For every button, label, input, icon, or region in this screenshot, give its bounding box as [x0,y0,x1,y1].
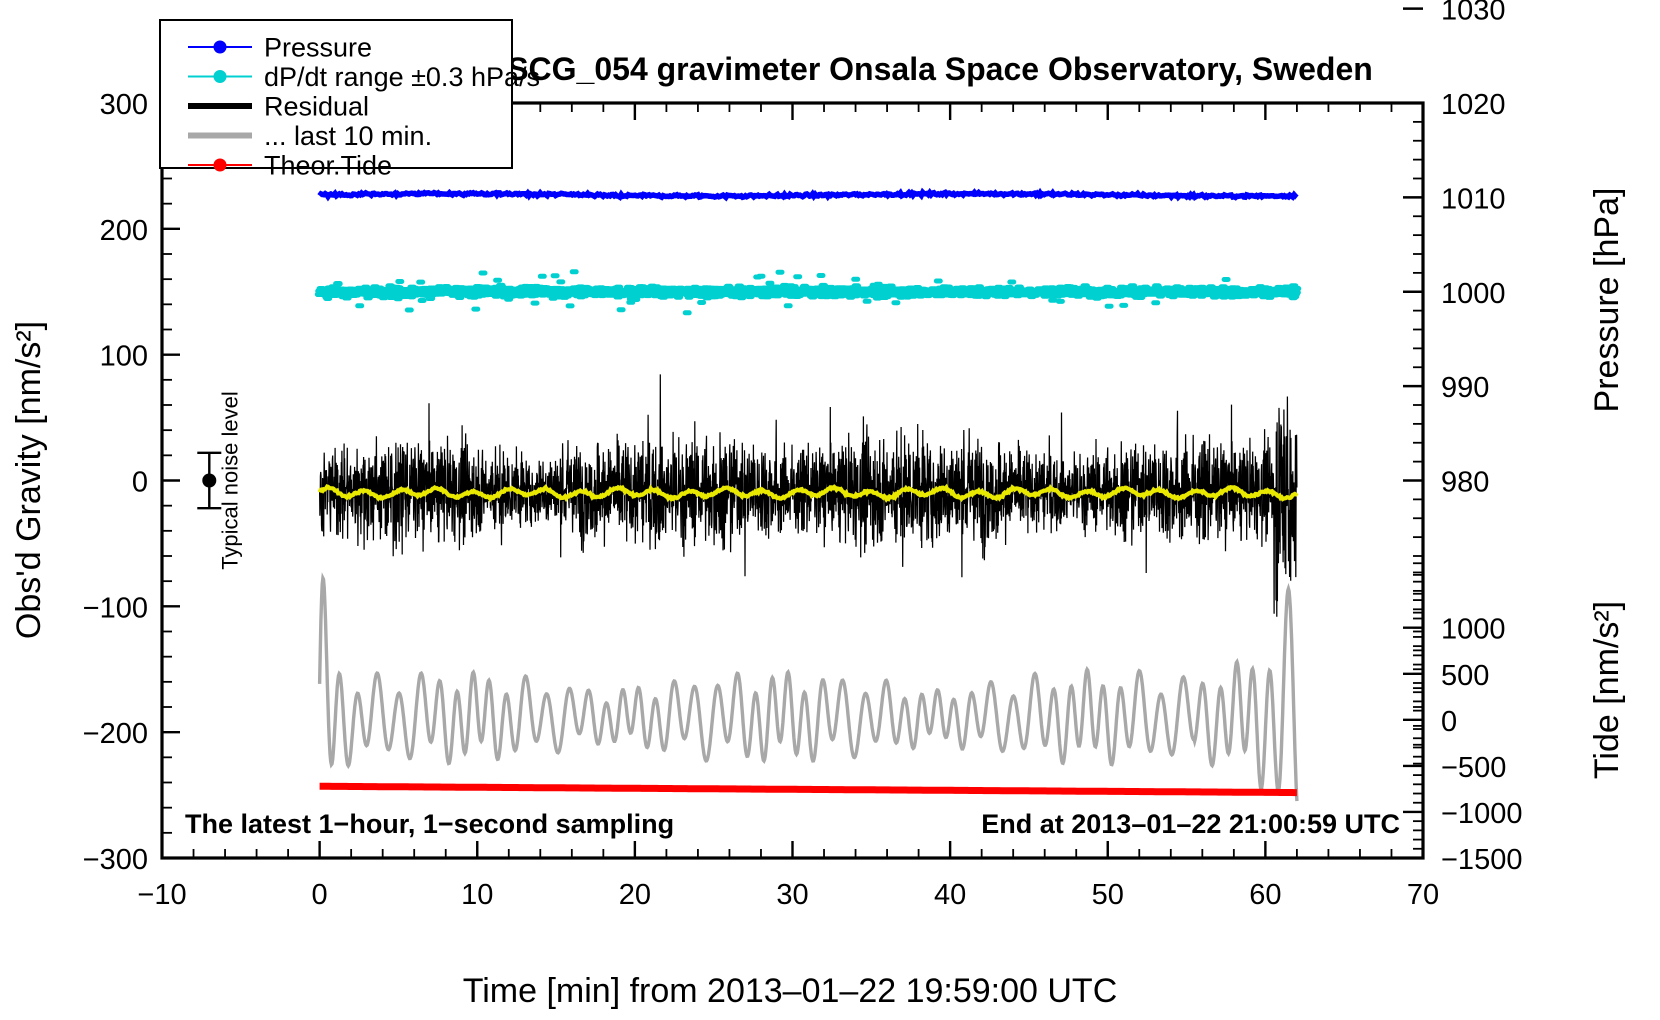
x-tick-label: 40 [934,879,966,911]
y-tick-label: 200 [100,215,148,247]
x-tick-label: 20 [619,879,651,911]
pressure-tick-label: 990 [1441,372,1489,404]
pressure-tick-label: 1000 [1441,278,1506,310]
x-tick-label: 60 [1249,879,1281,911]
y-tick-label: −100 [83,592,148,624]
legend-marker [214,41,227,54]
x-tick-label: 30 [776,879,808,911]
legend-label: Pressure [264,33,372,63]
pressure-tick-label: 1020 [1441,89,1506,121]
pressure-line [320,192,1297,197]
tide-tick-label: 0 [1441,706,1457,738]
x-tick-label: −10 [137,879,186,911]
y-tick-label: 100 [100,341,148,373]
tide-tick-label: 1000 [1441,614,1506,646]
legend-label: dP/dt range ±0.3 hPa/s [264,62,540,92]
legend-label: ... last 10 min. [264,121,432,151]
pressure-tick-label: 1030 [1441,0,1506,27]
end-time-note: End at 2013–01–22 21:00:59 UTC [981,809,1400,839]
tide-tick-label: 500 [1441,660,1489,692]
y-axis-title-pressure: Pressure [hPa] [1588,188,1626,413]
noise-level-dot [202,474,216,488]
pressure-tick-label: 1010 [1441,183,1506,215]
y-axis-title-left: Obs'd Gravity [nm/s²] [10,321,48,639]
tide-tick-label: −1500 [1441,844,1522,876]
page-title: SCG_054 gravimeter Onsala Space Observat… [507,51,1373,87]
y-tick-label: −200 [83,718,148,750]
tide-tick-label: −500 [1441,752,1506,784]
gravimeter-chart: −10010203040506070 −300−200−100010020030… [0,0,1660,1020]
y-tick-label: 300 [100,89,148,121]
y-axis-title-tide: Tide [nm/s²] [1588,601,1626,779]
x-tick-label: 10 [461,879,493,911]
sampling-note: The latest 1−hour, 1−second sampling [185,809,674,839]
series-pressure [320,192,1297,197]
pressure-tick-label: 980 [1441,467,1489,499]
noise-level-label: Typical noise level [217,391,242,570]
y-tick-label: −300 [83,844,148,876]
x-tick-label: 0 [312,879,328,911]
y-tick-label: 0 [132,467,148,499]
legend[interactable]: PressuredP/dt range ±0.3 hPa/sResidual..… [160,20,540,181]
legend-label: Theor.Tide [264,151,392,181]
legend-label: Residual [264,92,369,122]
tide-tick-label: −1000 [1441,798,1522,830]
legend-marker [214,70,227,83]
x-tick-label: 50 [1092,879,1124,911]
legend-marker [214,159,227,172]
x-tick-label: 70 [1407,879,1439,911]
x-axis-title: Time [min] from 2013–01–22 19:59:00 UTC [463,972,1118,1010]
chart-page: −10010203040506070 −300−200−100010020030… [0,0,1660,1020]
